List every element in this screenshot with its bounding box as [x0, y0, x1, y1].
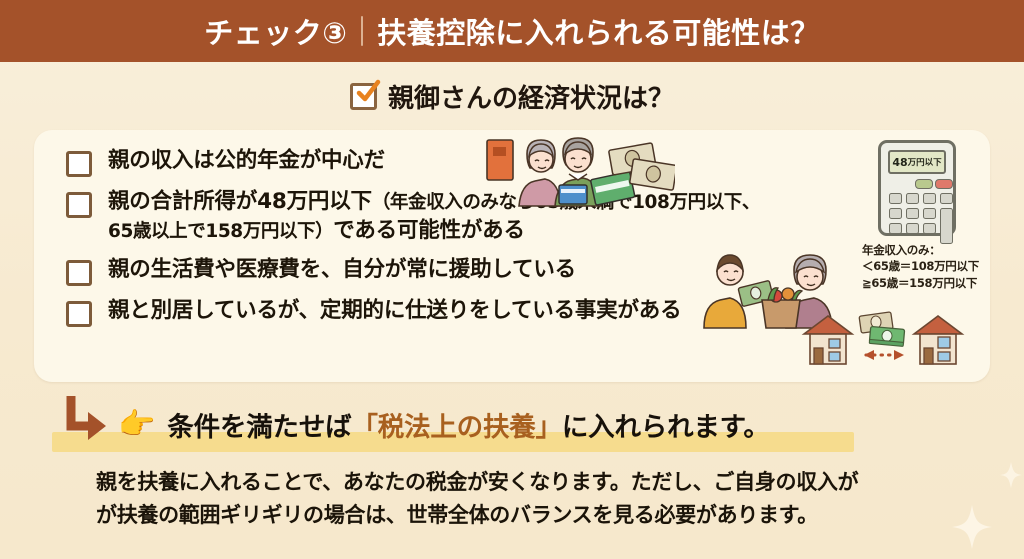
- house-right: [914, 316, 962, 364]
- sparkle-decoration-small: [1000, 462, 1022, 488]
- calculator-body: 48万円以下: [878, 140, 956, 236]
- conclusion-text: 条件を満たせば「税法上の扶養」に入れられます。: [165, 405, 771, 444]
- footer-line-2: が扶養の範囲ギリギリの場合は、世帯全体のバランスを見る必要があります。: [96, 499, 956, 532]
- calculator-key: [889, 208, 902, 219]
- calculator-key-red: [935, 179, 953, 189]
- header-band: チェック③ 扶養控除に入れられる可能性は？: [0, 0, 1024, 62]
- checkbox-empty-icon[interactable]: [66, 301, 92, 327]
- calculator-display-unit: 万円以下: [908, 156, 942, 168]
- checkbox-checked-icon[interactable]: [350, 83, 377, 110]
- checkbox-empty-icon[interactable]: [66, 151, 92, 177]
- calculator-display: 48万円以下: [888, 150, 946, 174]
- list-item-label-part: 親の合計所得が48万円以下: [108, 189, 372, 214]
- pointing-hand-icon: 👉: [118, 410, 155, 440]
- footer-note: 親を扶養に入れることで、あなたの税金が安くなります。ただし、ご自身の収入が が扶…: [96, 466, 956, 531]
- calculator-key: [923, 193, 936, 204]
- calculator-key: [923, 223, 936, 234]
- checkbox-empty-icon[interactable]: [66, 260, 92, 286]
- list-item-label: 親の収入は公的年金が中心だ: [108, 146, 385, 175]
- header-divider: [361, 16, 363, 46]
- calculator-key: [906, 208, 919, 219]
- header-inner: チェック③ 扶養控除に入れられる可能性は？: [204, 10, 820, 52]
- page-title: 扶養控除に入れられる可能性は？: [377, 10, 820, 52]
- calculator-illustration: 48万円以下: [878, 140, 956, 236]
- list-item-label-note2: 65歳以上で158万円以下）: [108, 221, 333, 242]
- calculator-key: [906, 193, 919, 204]
- sparkle-decoration: [952, 505, 992, 549]
- checkbox-empty-icon[interactable]: [66, 192, 92, 218]
- calculator-key: [906, 223, 919, 234]
- elderly-couple-illustration: [485, 132, 675, 212]
- house-left: [804, 316, 852, 364]
- conclusion-row: 👉 条件を満たせば「税法上の扶養」に入れられます。: [118, 405, 772, 444]
- calculator-note-line3: ≧65歳＝158万円以下: [862, 275, 1017, 291]
- calculator-key: [889, 223, 902, 234]
- conclusion-text-before: 条件を満たせば: [167, 412, 351, 443]
- elbow-arrow-icon: [66, 396, 106, 442]
- slide-root: チェック③ 扶養控除に入れられる可能性は？ 親御さんの経済状況は？ 親の収入は公…: [0, 0, 1024, 559]
- calculator-key: [923, 208, 936, 219]
- calculator-display-number: 48: [892, 156, 907, 169]
- calculator-key: [940, 193, 953, 204]
- two-houses-illustration: [800, 310, 968, 376]
- calculator-note-line1: 年金収入のみ：: [862, 242, 1017, 258]
- header-badge: チェック③: [204, 10, 347, 52]
- list-item-label: 親の生活費や医療費を、自分が常に援助している: [108, 255, 576, 284]
- calculator-note-line2: ＜65歳＝108万円以下: [862, 258, 1017, 274]
- subtitle-row: 親御さんの経済状況は？: [0, 78, 1024, 115]
- calculator-key-enter: [940, 208, 953, 244]
- subtitle-text: 親御さんの経済状況は？: [388, 78, 674, 115]
- double-arrow-icon: [864, 350, 904, 360]
- conclusion-text-accent: 「税法上の扶養」: [351, 412, 561, 443]
- calculator-key: [889, 193, 902, 204]
- check-mark-icon: [355, 79, 381, 105]
- conclusion-text-after: に入れられます。: [562, 412, 770, 443]
- list-item-label: 親と別居しているが、定期的に仕送りをしている事実がある: [108, 296, 681, 325]
- calculator-key-green: [915, 179, 933, 189]
- list-item-label-part2: である可能性がある: [333, 218, 525, 243]
- calculator-note: 年金収入のみ： ＜65歳＝108万円以下 ≧65歳＝158万円以下: [862, 242, 1017, 291]
- footer-line-1: 親を扶養に入れることで、あなたの税金が安くなります。ただし、ご自身の収入が: [96, 466, 956, 499]
- banknote-stack: [869, 326, 904, 346]
